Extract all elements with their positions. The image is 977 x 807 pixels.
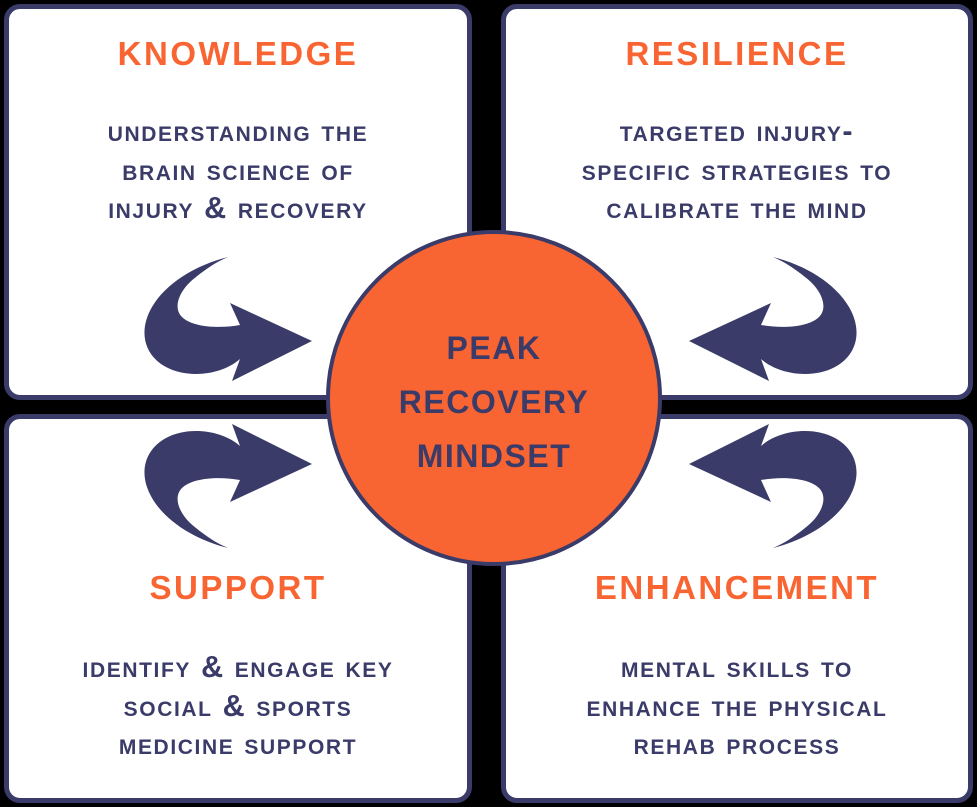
- curved-arrow-icon-top-right: [665, 255, 865, 400]
- quadrant-body-line: rehab process: [587, 725, 888, 764]
- quadrant-body-support: identify & engage key social & sports me…: [69, 648, 408, 764]
- quadrant-body-line: enhance the physical: [587, 687, 888, 726]
- quadrant-body-enhancement: Mental skills to enhance the physical re…: [573, 648, 902, 764]
- curved-arrow-icon-top-left: [136, 255, 336, 400]
- center-circle-line: Mindset: [417, 425, 572, 479]
- quadrant-title-resilience: Resilience: [625, 25, 848, 72]
- curved-arrow-icon-bottom-right: [665, 405, 865, 550]
- quadrant-title-support: Support: [149, 559, 326, 606]
- quadrant-body-line: Targeted injury-: [582, 112, 892, 151]
- peak-recovery-mindset-diagram: Knowledge Understanding the brain scienc…: [0, 0, 977, 807]
- quadrant-body-line: brain science of: [108, 151, 368, 190]
- quadrant-body-resilience: Targeted injury- specific strategies to …: [568, 112, 906, 228]
- quadrant-body-line: Understanding the: [108, 112, 368, 151]
- center-circle-peak-recovery-mindset[interactable]: Peak Recovery Mindset: [326, 230, 662, 566]
- quadrant-body-line: specific strategies to: [582, 151, 892, 190]
- quadrant-body-line: Mental skills to: [587, 648, 888, 687]
- quadrant-body-line: identify & engage key: [83, 648, 394, 687]
- quadrant-body-knowledge: Understanding the brain science of Injur…: [94, 112, 382, 228]
- quadrant-body-line: calibrate the mind: [582, 189, 892, 228]
- quadrant-title-knowledge: Knowledge: [118, 25, 359, 72]
- quadrant-body-line: social & sports: [83, 687, 394, 726]
- quadrant-title-enhancement: Enhancement: [595, 559, 879, 606]
- curved-arrow-icon-bottom-left: [136, 405, 336, 550]
- center-circle-line: Recovery: [399, 371, 589, 425]
- quadrant-body-line: medicine support: [83, 725, 394, 764]
- quadrant-body-line: Injury & recovery: [108, 189, 368, 228]
- center-circle-line: Peak: [447, 317, 542, 371]
